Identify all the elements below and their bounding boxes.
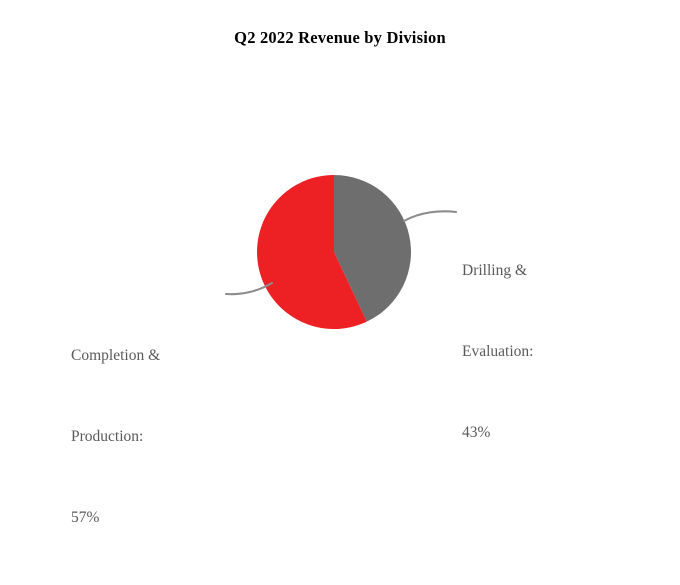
leader-line-drilling-evaluation <box>404 211 456 221</box>
pie-label-completion-value: 57% <box>71 504 160 531</box>
pie-label-drilling-evaluation: Drilling & Evaluation: 43% <box>462 203 533 500</box>
pie-label-completion-line2: Production: <box>71 423 160 450</box>
pie-label-drilling-line2: Evaluation: <box>462 338 533 365</box>
chart-canvas: Q2 2022 Revenue by Division Drilling & E… <box>0 0 680 450</box>
pie-label-completion-production: Completion & Production: 57% <box>71 288 160 585</box>
pie-label-drilling-value: 43% <box>462 419 533 446</box>
pie-label-drilling-line1: Drilling & <box>462 257 533 284</box>
pie-label-completion-line1: Completion & <box>71 342 160 369</box>
